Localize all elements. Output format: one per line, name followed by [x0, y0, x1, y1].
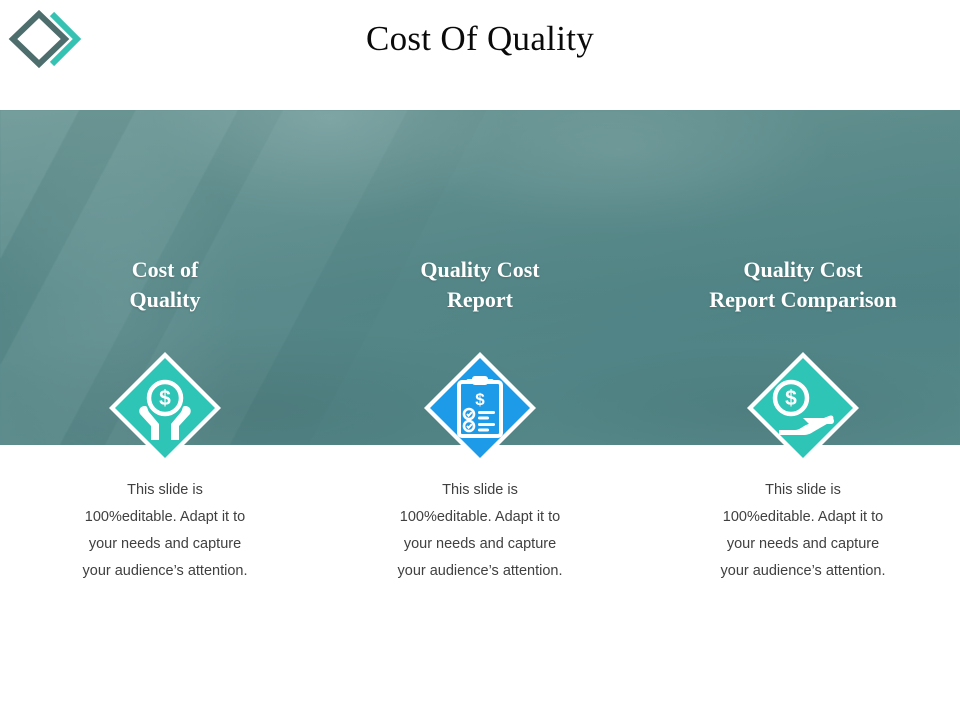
- slide-canvas: Cost Of Quality Cost of Quality $: [0, 0, 960, 720]
- hands-holding-dollar-coin-icon[interactable]: $: [105, 348, 225, 468]
- svg-text:$: $: [159, 387, 171, 410]
- body-line: your needs and capture: [320, 531, 640, 558]
- svg-text:$: $: [785, 387, 797, 410]
- column-heading: Quality Cost Report Comparison: [643, 255, 960, 315]
- body-line: 100%editable. Adapt it to: [320, 504, 640, 531]
- body-line: your needs and capture: [5, 531, 325, 558]
- clipboard-dollar-checklist-icon[interactable]: $: [420, 348, 540, 468]
- column-body-text: This slide is 100%editable. Adapt it to …: [320, 477, 640, 585]
- slide-header: Cost Of Quality: [0, 0, 960, 110]
- column-heading: Quality Cost Report: [320, 255, 640, 315]
- column-heading-line2: Quality: [130, 287, 201, 312]
- body-line: 100%editable. Adapt it to: [5, 504, 325, 531]
- column-heading: Cost of Quality: [5, 255, 325, 315]
- column-heading-line2: Report: [447, 287, 513, 312]
- column-body-text: This slide is 100%editable. Adapt it to …: [5, 477, 325, 585]
- column-heading-line2: Report Comparison: [709, 287, 897, 312]
- column-quality-cost-report-comparison: Quality Cost Report Comparison $ This sl…: [643, 110, 960, 610]
- column-body-text: This slide is 100%editable. Adapt it to …: [643, 477, 960, 585]
- column-heading-line1: Cost of: [132, 257, 199, 282]
- body-line: This slide is: [320, 477, 640, 504]
- body-line: your audience’s attention.: [643, 558, 960, 585]
- columns-container: Cost of Quality $ This slide is 100%edi: [0, 110, 960, 610]
- svg-text:$: $: [475, 390, 485, 409]
- column-heading-line1: Quality Cost: [743, 257, 862, 282]
- body-line: This slide is: [643, 477, 960, 504]
- page-title: Cost Of Quality: [0, 16, 960, 62]
- body-line: your needs and capture: [643, 531, 960, 558]
- body-line: your audience’s attention.: [5, 558, 325, 585]
- column-heading-line1: Quality Cost: [420, 257, 539, 282]
- body-line: your audience’s attention.: [320, 558, 640, 585]
- hand-receiving-dollar-coin-icon[interactable]: $: [743, 348, 863, 468]
- body-line: This slide is: [5, 477, 325, 504]
- column-quality-cost-report: Quality Cost Report $: [320, 110, 640, 610]
- body-line: 100%editable. Adapt it to: [643, 504, 960, 531]
- column-cost-of-quality: Cost of Quality $ This slide is 100%edi: [5, 110, 325, 610]
